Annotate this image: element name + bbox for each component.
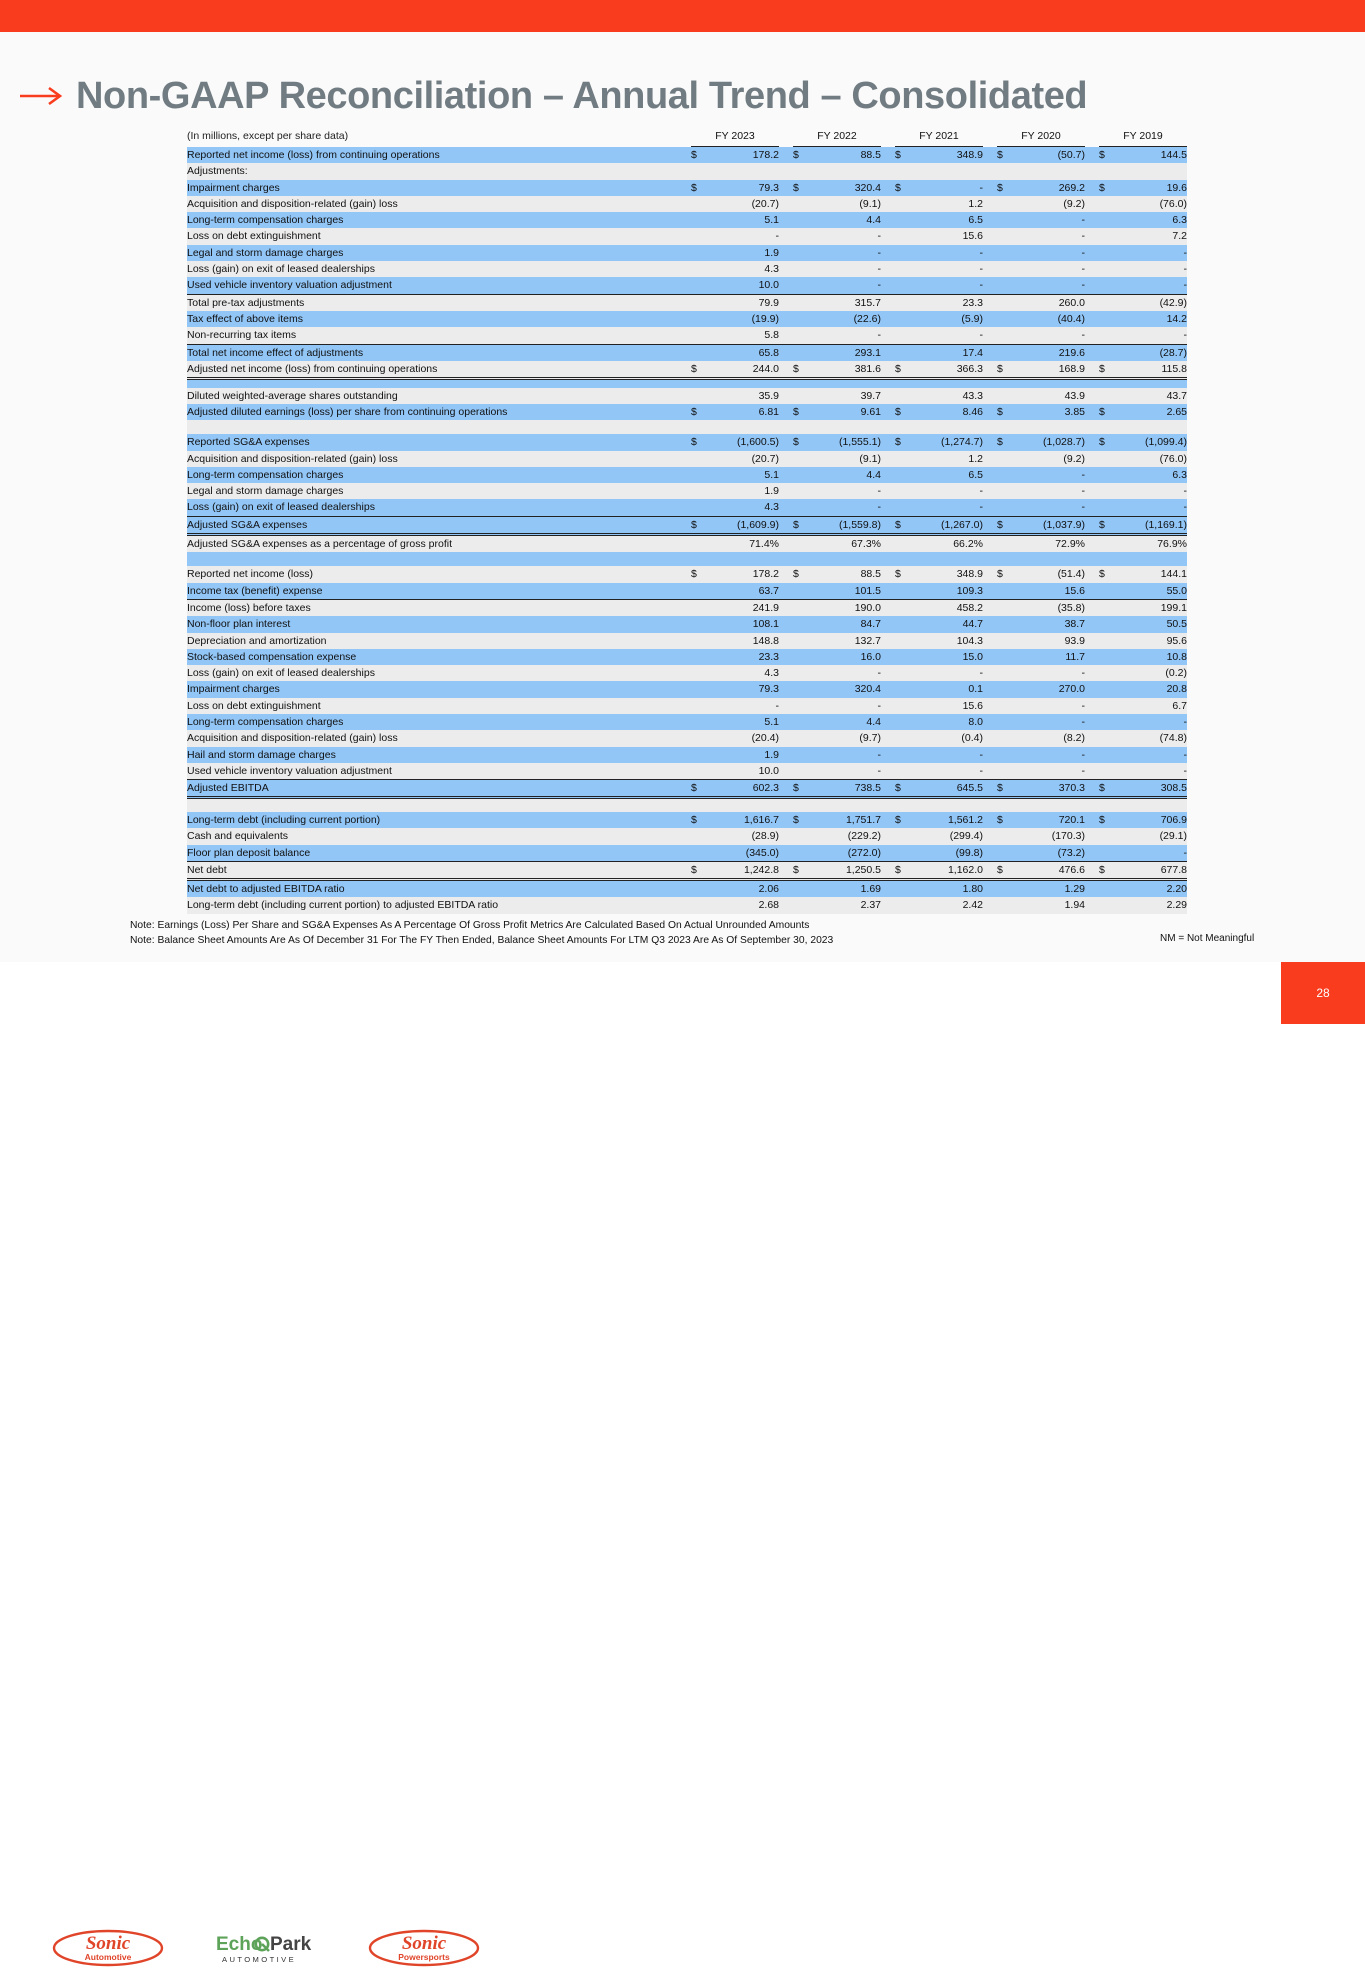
currency-symbol [997,344,1013,361]
table-row: Legal and storm damage charges1.9---- [187,483,1187,499]
row-label: Acquisition and disposition-related (gai… [187,196,691,212]
table-row: Total net income effect of adjustments65… [187,344,1187,361]
cell-value [1013,163,1085,179]
row-label: Reported SG&A expenses [187,434,691,450]
currency-symbol [997,483,1013,499]
cell-value: - [1013,277,1085,294]
cell-value: 168.9 [1013,361,1085,379]
cell-value [809,163,881,179]
cell-value: - [911,277,983,294]
cell-value: (22.6) [809,311,881,327]
cell-value: - [911,245,983,261]
row-label: Net debt to adjusted EBITDA ratio [187,880,691,898]
cell-value: (1,559.8) [809,516,881,534]
cell-value: 4.3 [707,665,779,681]
cell-value: 15.6 [911,698,983,714]
cell-value: (5.9) [911,311,983,327]
currency-symbol [997,616,1013,632]
currency-symbol: $ [1099,147,1115,164]
cell-value: 190.0 [809,599,881,616]
row-label: Tax effect of above items [187,311,691,327]
currency-symbol [793,499,809,516]
currency-symbol [793,649,809,665]
sonic-automotive-logo: Sonic Automotive [52,1928,164,1968]
cell-value: (9.1) [809,451,881,467]
currency-symbol [793,897,809,913]
currency-symbol: $ [895,404,911,420]
svg-text:Powersports: Powersports [398,1952,450,1962]
currency-symbol [691,499,707,516]
currency-symbol [895,633,911,649]
currency-symbol [1099,880,1115,898]
svg-text:Park: Park [270,1934,312,1955]
cell-value: - [809,698,881,714]
currency-symbol [895,277,911,294]
cell-value: (51.4) [1013,566,1085,582]
currency-symbol: $ [997,812,1013,828]
currency-symbol [997,228,1013,244]
cell-value: (29.1) [1115,828,1187,844]
cell-value: - [1115,714,1187,730]
table-row: Tax effect of above items(19.9)(22.6)(5.… [187,311,1187,327]
currency-symbol: $ [895,812,911,828]
cell-value: 602.3 [707,780,779,798]
cell-value: (50.7) [1013,147,1085,164]
cell-value: - [1013,245,1085,261]
cell-value: 15.0 [911,649,983,665]
currency-symbol [997,583,1013,600]
cell-value: (1,037.9) [1013,516,1085,534]
cell-value: 1,751.7 [809,812,881,828]
currency-symbol [1099,163,1115,179]
cell-value: 109.3 [911,583,983,600]
column-header-fy2020: FY 2020 [997,126,1085,147]
currency-symbol [793,535,809,553]
cell-value: 10.8 [1115,649,1187,665]
cell-value: 71.4% [707,535,779,553]
cell-value: 1,561.2 [911,812,983,828]
currency-symbol [691,196,707,212]
currency-symbol: $ [997,861,1013,879]
cell-value: - [809,747,881,763]
currency-symbol [1099,649,1115,665]
currency-symbol [1099,681,1115,697]
row-label: Acquisition and disposition-related (gai… [187,730,691,746]
currency-symbol: $ [691,566,707,582]
cell-value: - [1115,499,1187,516]
row-label: Loss (gain) on exit of leased dealership… [187,261,691,277]
currency-symbol [691,880,707,898]
currency-symbol: $ [895,780,911,798]
cell-value: 260.0 [1013,294,1085,311]
cell-value: 476.6 [1013,861,1085,879]
currency-symbol [793,228,809,244]
currency-symbol [1099,245,1115,261]
column-header-fy2022: FY 2022 [793,126,881,147]
currency-symbol [895,228,911,244]
table-spacer-row [187,379,1187,388]
page-title: Non-GAAP Reconciliation – Annual Trend –… [76,75,1087,118]
cell-value: 38.7 [1013,616,1085,632]
cell-value: 315.7 [809,294,881,311]
currency-symbol [997,467,1013,483]
cell-value: - [911,747,983,763]
table-row: Reported net income (loss) from continui… [187,147,1187,164]
currency-symbol [997,747,1013,763]
currency-symbol [1099,730,1115,746]
row-label: Adjustments: [187,163,691,179]
currency-symbol: $ [691,861,707,879]
currency-symbol [1099,633,1115,649]
cell-value: (9.2) [1013,451,1085,467]
cell-value: - [1115,261,1187,277]
cell-value: 5.1 [707,467,779,483]
cell-value: (9.7) [809,730,881,746]
currency-symbol [691,763,707,780]
table-row: Adjustments: [187,163,1187,179]
table-row: Acquisition and disposition-related (gai… [187,730,1187,746]
currency-symbol [1099,714,1115,730]
logo-strip: Sonic Automotive Echo Park AUTOMOTIVE So… [52,1928,480,1968]
cell-value: 1,162.0 [911,861,983,879]
currency-symbol [1099,294,1115,311]
row-label: Adjusted diluted earnings (loss) per sha… [187,404,691,420]
currency-symbol: $ [997,516,1013,534]
table-row: Total pre-tax adjustments79.9315.723.326… [187,294,1187,311]
cell-value: 2.06 [707,880,779,898]
currency-symbol [1099,388,1115,404]
currency-symbol [691,599,707,616]
row-label: Total net income effect of adjustments [187,344,691,361]
non-gaap-reconciliation-table: (In millions, except per share data) FY … [187,126,1187,914]
currency-symbol [793,467,809,483]
cell-value: (345.0) [707,845,779,862]
currency-symbol [997,633,1013,649]
currency-symbol [1099,828,1115,844]
cell-value: - [1013,714,1085,730]
currency-symbol [691,583,707,600]
cell-value: 10.0 [707,277,779,294]
currency-symbol [1099,845,1115,862]
cell-value: 269.2 [1013,180,1085,196]
cell-value: - [809,665,881,681]
currency-symbol [895,212,911,228]
row-label: Adjusted net income (loss) from continui… [187,361,691,379]
cell-value: (99.8) [911,845,983,862]
currency-symbol: $ [793,861,809,879]
currency-symbol [793,344,809,361]
table-row: Net debt$1,242.8$1,250.5$1,162.0$476.6$6… [187,861,1187,879]
currency-symbol [895,499,911,516]
currency-symbol [691,228,707,244]
table-row: Long-term compensation charges5.14.46.5-… [187,212,1187,228]
table-row: Reported SG&A expenses$(1,600.5)$(1,555.… [187,434,1187,450]
currency-symbol: $ [895,516,911,534]
table-row: Loss (gain) on exit of leased dealership… [187,499,1187,516]
currency-symbol [997,845,1013,862]
cell-value: (1,099.4) [1115,434,1187,450]
echopark-logo: Echo Park AUTOMOTIVE [210,1928,322,1968]
currency-symbol [997,294,1013,311]
currency-symbol [1099,698,1115,714]
currency-symbol [895,163,911,179]
cell-value: 458.2 [911,599,983,616]
currency-symbol [691,633,707,649]
cell-value: 720.1 [1013,812,1085,828]
currency-symbol [1099,897,1115,913]
currency-symbol: $ [895,566,911,582]
currency-symbol [691,388,707,404]
cell-value: 2.65 [1115,404,1187,420]
cell-value: 1.2 [911,451,983,467]
currency-symbol [895,451,911,467]
table-row: Loss on debt extinguishment--15.6-6.7 [187,698,1187,714]
cell-value: 320.4 [809,180,881,196]
cell-value: 1.29 [1013,880,1085,898]
currency-symbol [997,311,1013,327]
cell-value: 219.6 [1013,344,1085,361]
cell-value: 88.5 [809,566,881,582]
currency-symbol [895,665,911,681]
currency-symbol [997,499,1013,516]
row-label: Adjusted SG&A expenses [187,516,691,534]
cell-value: 144.1 [1115,566,1187,582]
currency-symbol [895,828,911,844]
table-row: Acquisition and disposition-related (gai… [187,196,1187,212]
cell-value: 6.5 [911,212,983,228]
cell-value: 178.2 [707,147,779,164]
currency-symbol [1099,616,1115,632]
row-label: Long-term debt (including current portio… [187,812,691,828]
currency-symbol [997,730,1013,746]
cell-value: 11.7 [1013,649,1085,665]
currency-symbol [793,714,809,730]
currency-symbol [691,535,707,553]
cell-value: 1,616.7 [707,812,779,828]
currency-symbol: $ [793,147,809,164]
cell-value: 348.9 [911,566,983,582]
cell-value: 1.80 [911,880,983,898]
currency-symbol [793,196,809,212]
currency-symbol: $ [1099,516,1115,534]
cell-value: - [1013,747,1085,763]
cell-value: 320.4 [809,681,881,697]
currency-symbol: $ [895,361,911,379]
currency-symbol [691,845,707,862]
currency-symbol [691,616,707,632]
cell-value: - [911,483,983,499]
cell-value: 44.7 [911,616,983,632]
cell-value: - [809,327,881,344]
currency-symbol [1099,228,1115,244]
currency-symbol [691,483,707,499]
currency-symbol [1099,344,1115,361]
table-row: Non-recurring tax items5.8---- [187,327,1187,344]
cell-value: 43.7 [1115,388,1187,404]
currency-symbol [691,451,707,467]
currency-symbol [997,277,1013,294]
currency-symbol: $ [1099,434,1115,450]
table-row: Adjusted SG&A expenses$(1,609.9)$(1,559.… [187,516,1187,534]
cell-value: - [1115,277,1187,294]
row-label: Used vehicle inventory valuation adjustm… [187,277,691,294]
page-number: 28 [1281,962,1365,1024]
currency-symbol: $ [1099,404,1115,420]
column-header-fy2023: FY 2023 [691,126,779,147]
currency-symbol: $ [997,361,1013,379]
currency-symbol [691,277,707,294]
cell-value: 1.2 [911,196,983,212]
currency-symbol [1099,535,1115,553]
sonic-powersports-logo: Sonic Powersports [368,1928,480,1968]
svg-text:Sonic: Sonic [86,1933,131,1954]
cell-value: 2.42 [911,897,983,913]
cell-value: 9.61 [809,404,881,420]
cell-value: 15.6 [1013,583,1085,600]
currency-symbol [997,649,1013,665]
currency-symbol [1099,583,1115,600]
cell-value: (19.9) [707,311,779,327]
currency-symbol: $ [691,780,707,798]
currency-symbol [793,730,809,746]
currency-symbol [895,730,911,746]
currency-symbol [691,828,707,844]
footnotes: Note: Earnings (Loss) Per Share and SG&A… [130,918,833,948]
table-row: Cash and equivalents(28.9)(229.2)(299.4)… [187,828,1187,844]
currency-symbol [997,451,1013,467]
currency-symbol [691,649,707,665]
table-row: Diluted weighted-average shares outstand… [187,388,1187,404]
row-label: Long-term debt (including current portio… [187,897,691,913]
cell-value: 6.3 [1115,467,1187,483]
cell-value: 23.3 [707,649,779,665]
row-label: Legal and storm damage charges [187,245,691,261]
currency-symbol [1099,277,1115,294]
cell-value: (20.7) [707,451,779,467]
column-header-fy2019: FY 2019 [1099,126,1187,147]
currency-symbol: $ [895,147,911,164]
table-row: Stock-based compensation expense23.316.0… [187,649,1187,665]
cell-value: (28.7) [1115,344,1187,361]
currency-symbol [793,277,809,294]
cell-value: 65.8 [707,344,779,361]
cell-value: 1.69 [809,880,881,898]
cell-value [911,163,983,179]
cell-value: 88.5 [809,147,881,164]
currency-symbol: $ [1099,361,1115,379]
cell-value: 67.3% [809,535,881,553]
cell-value: 93.9 [1013,633,1085,649]
cell-value: 43.3 [911,388,983,404]
cell-value: 348.9 [911,147,983,164]
arrow-right-icon [18,82,66,110]
currency-symbol [895,344,911,361]
cell-value: - [911,665,983,681]
currency-symbol: $ [1099,861,1115,879]
table-row: Adjusted SG&A expenses as a percentage o… [187,535,1187,553]
currency-symbol [895,467,911,483]
cell-value: 1,242.8 [707,861,779,879]
row-label: Cash and equivalents [187,828,691,844]
currency-symbol [997,698,1013,714]
cell-value: 2.37 [809,897,881,913]
currency-symbol [793,763,809,780]
currency-symbol [691,344,707,361]
cell-value: 677.8 [1115,861,1187,879]
cell-value: - [707,698,779,714]
cell-value: 308.5 [1115,780,1187,798]
currency-symbol [895,698,911,714]
row-label: Diluted weighted-average shares outstand… [187,388,691,404]
cell-value: 645.5 [911,780,983,798]
cell-value: 132.7 [809,633,881,649]
currency-symbol [793,880,809,898]
cell-value: - [1013,261,1085,277]
cell-value: (8.2) [1013,730,1085,746]
currency-symbol: $ [793,566,809,582]
svg-text:Automotive: Automotive [85,1952,132,1962]
cell-value: 270.0 [1013,681,1085,697]
cell-value: - [911,327,983,344]
cell-value: 244.0 [707,361,779,379]
cell-value: - [1013,467,1085,483]
cell-value: (28.9) [707,828,779,844]
cell-value: 381.6 [809,361,881,379]
cell-value: 1.9 [707,483,779,499]
cell-value: - [1115,245,1187,261]
table-row: Used vehicle inventory valuation adjustm… [187,763,1187,780]
currency-symbol [997,714,1013,730]
cell-value: 10.0 [707,763,779,780]
row-label: Legal and storm damage charges [187,483,691,499]
cell-value: 1,250.5 [809,861,881,879]
currency-symbol [895,897,911,913]
cell-value: 4.4 [809,212,881,228]
cell-value: (1,555.1) [809,434,881,450]
row-label: Acquisition and disposition-related (gai… [187,451,691,467]
currency-symbol: $ [1099,566,1115,582]
cell-value: 0.1 [911,681,983,697]
table-row: Impairment charges79.3320.40.1270.020.8 [187,681,1187,697]
cell-value: 104.3 [911,633,983,649]
currency-symbol [997,763,1013,780]
cell-value: - [1115,747,1187,763]
cell-value: (0.2) [1115,665,1187,681]
currency-symbol [1099,747,1115,763]
currency-symbol [1099,261,1115,277]
units-note: (In millions, except per share data) [187,126,691,147]
cell-value: 148.8 [707,633,779,649]
currency-symbol [691,261,707,277]
currency-symbol [997,245,1013,261]
currency-symbol: $ [793,516,809,534]
cell-value: 101.5 [809,583,881,600]
currency-symbol [895,196,911,212]
cell-value: - [809,245,881,261]
currency-symbol [997,163,1013,179]
currency-symbol [793,245,809,261]
currency-symbol [997,212,1013,228]
currency-symbol [895,880,911,898]
cell-value: 4.4 [809,714,881,730]
currency-symbol [895,714,911,730]
cell-value: (170.3) [1013,828,1085,844]
cell-value: 706.9 [1115,812,1187,828]
currency-symbol [895,649,911,665]
currency-symbol [895,599,911,616]
cell-value: 241.9 [707,599,779,616]
row-label: Used vehicle inventory valuation adjustm… [187,763,691,780]
